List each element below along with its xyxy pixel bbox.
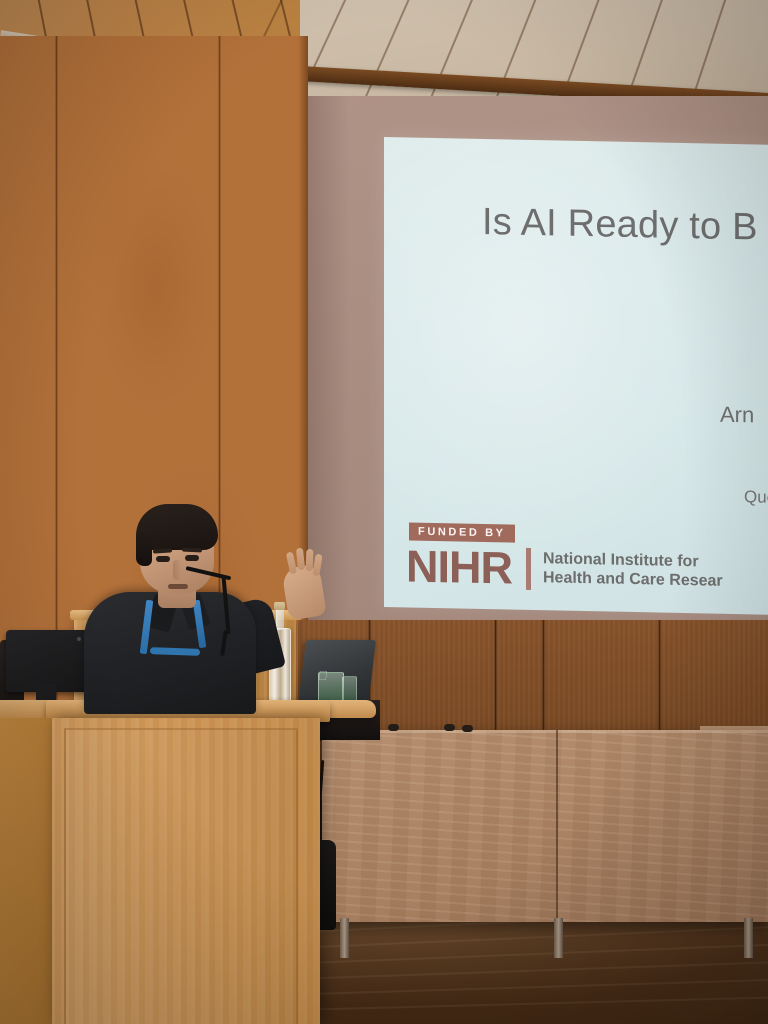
cabinet-knob-1 (388, 724, 399, 731)
funded-by-badge: FUNDED BY (409, 523, 515, 543)
projection-slide: Is AI Ready to B Arn Que FUNDED BY NIHR … (384, 137, 768, 615)
monitor-led-icon (77, 637, 81, 641)
presentation-photo: Is AI Ready to B Arn Que FUNDED BY NIHR … (0, 0, 768, 1024)
desk-leg-left (340, 918, 349, 958)
desk-front-panel (322, 730, 768, 922)
nihr-wordmark-row: NIHR National Institute for Health and C… (406, 543, 723, 594)
desk-leg-mid (554, 918, 563, 958)
nihr-divider-bar (526, 547, 531, 589)
cabinet-knob-2 (444, 724, 455, 731)
nihr-fullname-line2: Health and Care Resear (543, 569, 723, 591)
nihr-fullname: National Institute for Health and Care R… (543, 550, 723, 590)
water-bottle-neck (276, 608, 284, 630)
podium-upper-box (74, 616, 296, 712)
nihr-acronym: NIHR (406, 543, 512, 590)
podium (52, 718, 320, 1024)
desk-leg-right (744, 918, 753, 958)
water-bottle-cap (274, 602, 285, 610)
podium-upper-lip (70, 610, 302, 620)
slide-author: Arn (720, 402, 754, 429)
nihr-logo: FUNDED BY NIHR National Institute for He… (406, 521, 723, 594)
monitor (6, 630, 90, 692)
podium-left-return (0, 718, 56, 1024)
slide-title: Is AI Ready to B (482, 202, 758, 249)
cabinet-knob-3 (462, 725, 473, 732)
slide-affiliation: Que (744, 487, 768, 508)
